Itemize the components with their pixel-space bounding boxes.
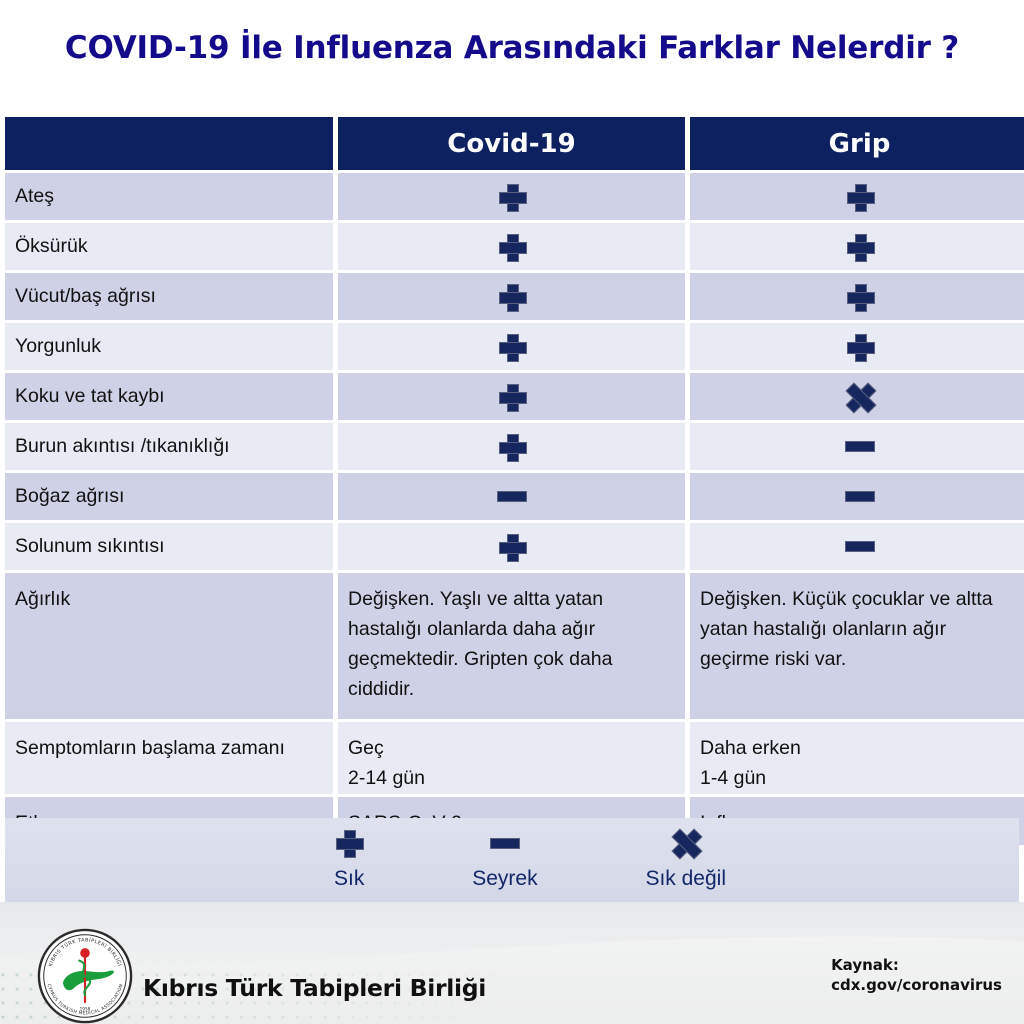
table-row: Koku ve tat kaybı xyxy=(5,373,1019,420)
legend-item: Sık değil xyxy=(645,828,726,891)
table-row: Vücut/baş ağrısı xyxy=(5,273,1019,320)
grip-cell: Daha erken 1-4 gün xyxy=(690,722,1024,794)
grip-cell xyxy=(690,523,1024,570)
table-row: Boğaz ağrısı xyxy=(5,473,1019,520)
covid-cell xyxy=(338,173,685,220)
covid-plus-icon xyxy=(499,284,525,310)
table-header-cell-grip: Grip xyxy=(690,117,1024,170)
covid-plus-icon xyxy=(499,434,525,460)
footer: KIBRIS TÜRK TABİPLERİ BİRLİĞİ CYPRUS TUR… xyxy=(0,902,1024,1024)
grip-cell xyxy=(690,423,1024,470)
grip-minus-icon xyxy=(845,491,875,502)
grip-plus-icon xyxy=(847,184,873,210)
covid-plus-icon xyxy=(499,384,525,410)
grip-cell xyxy=(690,173,1024,220)
table-body: AteşÖksürükVücut/baş ağrısıYorgunlukKoku… xyxy=(5,173,1019,845)
covid-plus-icon xyxy=(499,534,525,560)
source-credit: Kaynak: cdx.gov/coronavirus xyxy=(831,955,1002,995)
covid-plus-icon xyxy=(499,184,525,210)
logo-year: 1958 xyxy=(80,1007,91,1012)
legend-plus-icon xyxy=(336,830,362,856)
grip-cell: Değişken. Küçük çocuklar ve altta yatan … xyxy=(690,573,1024,719)
covid-cell xyxy=(338,373,685,420)
covid-cell: Değişken. Yaşlı ve altta yatan hastalığı… xyxy=(338,573,685,719)
covid-cell xyxy=(338,523,685,570)
ktto-logo: KIBRIS TÜRK TABİPLERİ BİRLİĞİ CYPRUS TUR… xyxy=(37,928,133,1024)
legend-cross-icon xyxy=(672,829,700,857)
legend: SıkSeyrekSık değil xyxy=(320,822,740,902)
table-row: Öksürük xyxy=(5,223,1019,270)
table-row: AğırlıkDeğişken. Yaşlı ve altta yatan ha… xyxy=(5,573,1019,719)
grip-minus-icon xyxy=(845,441,875,452)
grip-plus-icon xyxy=(847,234,873,260)
covid-cell: Geç 2-14 gün xyxy=(338,722,685,794)
infographic-page: COVID-19 İle Influenza Arasındaki Farkla… xyxy=(0,0,1024,1024)
row-label: Öksürük xyxy=(5,223,333,270)
row-label: Ateş xyxy=(5,173,333,220)
table-row: Yorgunluk xyxy=(5,323,1019,370)
source-url: cdx.gov/coronavirus xyxy=(831,975,1002,995)
grip-plus-icon xyxy=(847,334,873,360)
legend-item: Seyrek xyxy=(472,828,537,891)
covid-minus-icon xyxy=(497,491,527,502)
table-header-cell-covid: Covid-19 xyxy=(338,117,685,170)
table-header-cell-blank xyxy=(5,117,333,170)
table-row: Burun akıntısı /tıkanıklığı xyxy=(5,423,1019,470)
legend-symbol xyxy=(490,828,520,858)
table-row: Ateş xyxy=(5,173,1019,220)
legend-symbol xyxy=(672,828,700,858)
grip-cell xyxy=(690,373,1024,420)
covid-cell xyxy=(338,423,685,470)
grip-minus-icon xyxy=(845,541,875,552)
covid-plus-icon xyxy=(499,334,525,360)
organization-name: Kıbrıs Türk Tabipleri Birliği xyxy=(143,974,486,1002)
row-label: Semptomların başlama zamanı xyxy=(5,722,333,794)
grip-cell xyxy=(690,223,1024,270)
legend-minus-icon xyxy=(490,838,520,849)
row-label: Solunum sıkıntısı xyxy=(5,523,333,570)
grip-cross-icon xyxy=(846,383,874,411)
legend-label: Sık değil xyxy=(645,867,726,891)
row-label: Yorgunluk xyxy=(5,323,333,370)
grip-cell xyxy=(690,473,1024,520)
grip-plus-icon xyxy=(847,284,873,310)
legend-label: Sık xyxy=(334,867,364,891)
table-row: Solunum sıkıntısı xyxy=(5,523,1019,570)
covid-cell xyxy=(338,323,685,370)
table-header: Covid-19 Grip xyxy=(5,117,1019,170)
row-label: Burun akıntısı /tıkanıklığı xyxy=(5,423,333,470)
source-label: Kaynak: xyxy=(831,955,1002,975)
grip-cell xyxy=(690,323,1024,370)
legend-item: Sık xyxy=(334,828,364,891)
page-title: COVID-19 İle Influenza Arasındaki Farkla… xyxy=(0,30,1024,66)
row-label: Vücut/baş ağrısı xyxy=(5,273,333,320)
legend-symbol xyxy=(336,828,362,858)
table-row: Semptomların başlama zamanıGeç 2-14 günD… xyxy=(5,722,1019,794)
covid-cell xyxy=(338,473,685,520)
covid-cell xyxy=(338,273,685,320)
row-label: Boğaz ağrısı xyxy=(5,473,333,520)
row-label: Koku ve tat kaybı xyxy=(5,373,333,420)
row-label: Ağırlık xyxy=(5,573,333,719)
table-header-row: Covid-19 Grip xyxy=(5,117,1019,170)
comparison-table: Covid-19 Grip AteşÖksürükVücut/baş ağrıs… xyxy=(5,117,1019,845)
covid-cell xyxy=(338,223,685,270)
legend-label: Seyrek xyxy=(472,867,537,891)
covid-plus-icon xyxy=(499,234,525,260)
grip-cell xyxy=(690,273,1024,320)
